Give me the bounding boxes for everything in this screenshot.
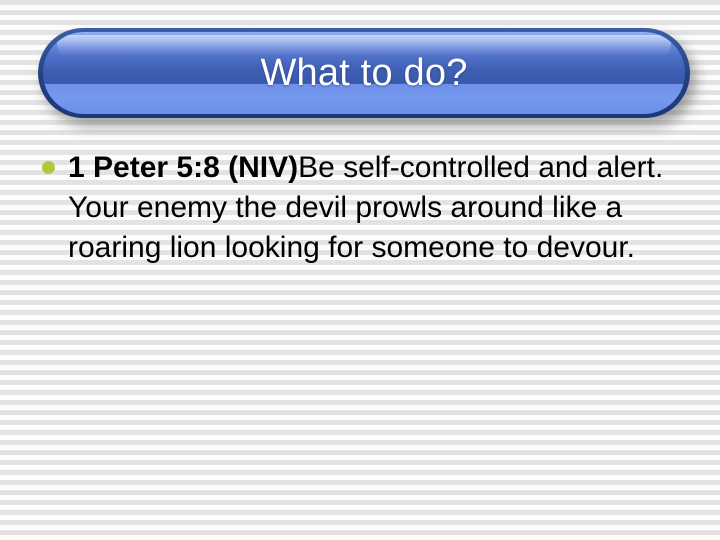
scripture-reference: 1 Peter 5:8 (NIV) xyxy=(68,151,298,184)
page-title: What to do? xyxy=(260,54,467,92)
bullet-item-text: 1 Peter 5:8 (NIV)Be self-controlled and … xyxy=(68,148,684,268)
list-item: 1 Peter 5:8 (NIV)Be self-controlled and … xyxy=(36,148,684,268)
bullet-dot-icon xyxy=(42,161,55,174)
title-banner-face: What to do? xyxy=(43,32,685,114)
slide-body: 1 Peter 5:8 (NIV)Be self-controlled and … xyxy=(36,148,684,268)
slide-title-banner: What to do? xyxy=(38,28,690,118)
slide-canvas: What to do? 1 Peter 5:8 (NIV)Be self-con… xyxy=(0,0,720,540)
title-banner-frame: What to do? xyxy=(38,28,690,118)
